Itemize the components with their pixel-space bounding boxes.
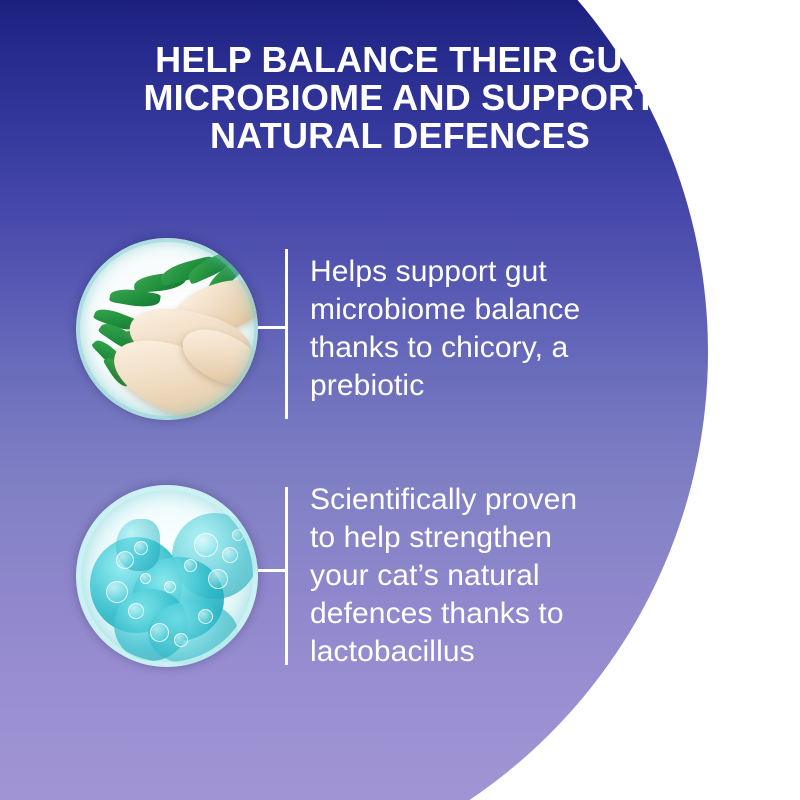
connector-rule-2 <box>285 487 288 665</box>
benefit-text-prebiotic-chicory: Helps support gut microbiome balance tha… <box>304 253 580 405</box>
page-title-line-3: NATURAL DEFENCES <box>0 117 800 155</box>
benefit-1-line-4: prebiotic <box>310 367 580 405</box>
benefit-connector-2 <box>258 481 304 671</box>
benefit-item-prebiotic-chicory: Helps support gut microbiome balance tha… <box>76 238 580 420</box>
benefit-connector-1 <box>258 238 304 420</box>
page-title-line-1: HELP BALANCE THEIR GUT <box>0 41 800 79</box>
benefit-1-line-2: microbiome balance <box>310 291 580 329</box>
benefit-2-line-5: lactobacillus <box>310 633 577 671</box>
petri-dish-lactobacillus-contents <box>76 485 258 667</box>
page-title-line-2: MICROBIOME AND SUPPORT <box>0 79 800 117</box>
connector-tick-2 <box>258 569 287 572</box>
connector-rule-1 <box>285 249 288 419</box>
benefit-text-lactobacillus-defences: Scientifically proven to help strengthen… <box>304 481 577 671</box>
benefit-2-line-3: your cat’s natural <box>310 557 577 595</box>
connector-tick-1 <box>258 326 287 329</box>
promo-panel: HELP BALANCE THEIR GUT MICROBIOME AND SU… <box>0 0 800 800</box>
benefit-1-line-1: Helps support gut <box>310 253 580 291</box>
benefit-item-lactobacillus-defences: Scientifically proven to help strengthen… <box>76 481 577 671</box>
petri-dish-chicory-root-icon <box>76 238 258 420</box>
petri-dish-lactobacillus-culture-icon <box>76 485 258 667</box>
benefit-2-line-1: Scientifically proven <box>310 481 577 519</box>
benefit-2-line-4: defences thanks to <box>310 595 577 633</box>
petri-dish-chicory-contents <box>76 238 258 420</box>
page-title: HELP BALANCE THEIR GUT MICROBIOME AND SU… <box>0 41 800 155</box>
benefit-2-line-2: to help strengthen <box>310 519 577 557</box>
benefit-1-line-3: thanks to chicory, a <box>310 329 580 367</box>
